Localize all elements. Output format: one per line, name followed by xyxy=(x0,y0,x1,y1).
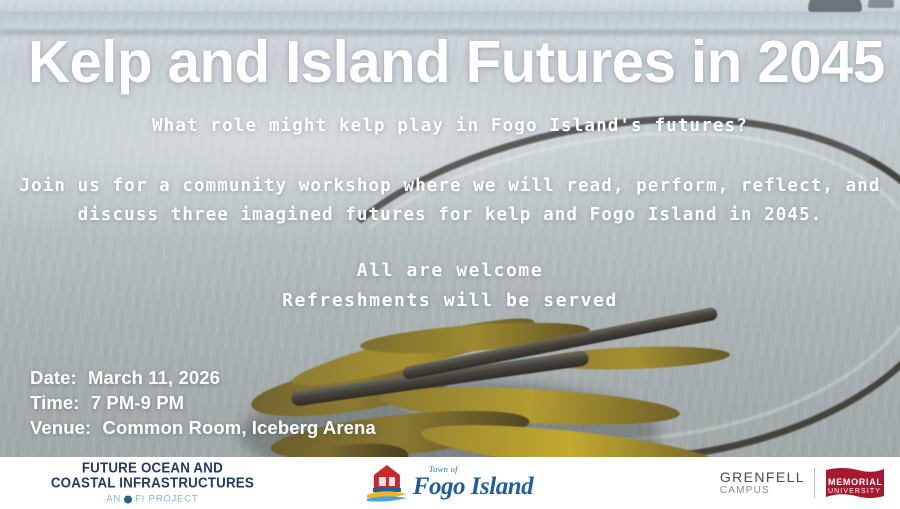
welcome-line-2: Refreshments will be served xyxy=(0,286,900,316)
ofi-circle-icon xyxy=(124,496,132,504)
grenfell-line-1: GRENFELL xyxy=(720,470,805,485)
fogo-house-svg xyxy=(367,464,407,502)
footer-logo-bar: FUTURE OCEAN AND COASTAL INFRASTRUCTURES… xyxy=(0,457,900,509)
foci-line-2: COASTAL INFRASTRUCTURES xyxy=(51,477,254,492)
fogo-wordmark: Town of Fogo Island xyxy=(413,468,533,499)
event-date-value: March 11, 2026 xyxy=(88,367,220,388)
memorial-line-2: UNIVERSITY xyxy=(828,487,883,497)
foci-line-1: FUTURE OCEAN AND xyxy=(51,462,254,477)
event-venue-row: Venue: Common Room, Iceberg Arena xyxy=(30,415,376,440)
welcome-line-1: All are welcome xyxy=(0,256,900,286)
poster-body: Join us for a community workshop where w… xyxy=(0,172,900,230)
event-venue-label: Venue: xyxy=(30,417,91,438)
memorial-university-logo: MEMORIAL UNIVERSITY xyxy=(824,466,886,500)
foci-logo: FUTURE OCEAN AND COASTAL INFRASTRUCTURES… xyxy=(42,462,263,505)
event-date-label: Date: xyxy=(30,367,77,388)
foci-sub-after: FI PROJECT xyxy=(135,494,198,505)
event-time-row: Time: 7 PM-9 PM xyxy=(30,390,376,415)
memorial-wordmark: MEMORIAL UNIVERSITY xyxy=(828,477,883,497)
event-time-label: Time: xyxy=(30,392,80,413)
logo-divider xyxy=(814,468,815,498)
university-logos: GRENFELL CAMPUS MEMORIAL UNIVERSITY xyxy=(720,466,886,500)
event-details: Date: March 11, 2026 Time: 7 PM-9 PM Ven… xyxy=(30,365,376,440)
poster-content: Kelp and Island Futures in 2045 What rol… xyxy=(0,0,900,509)
foci-subline: AN FI PROJECT xyxy=(42,494,263,505)
event-time-value: 7 PM-9 PM xyxy=(91,392,184,413)
memorial-line-1: MEMORIAL xyxy=(828,477,883,487)
welcome-block: All are welcome Refreshments will be ser… xyxy=(0,256,900,316)
fogo-island-logo: Town of Fogo Island xyxy=(367,464,533,502)
body-line-2: discuss three imagined futures for kelp … xyxy=(0,201,900,230)
body-line-1: Join us for a community workshop where w… xyxy=(0,172,900,201)
fogo-house-icon xyxy=(367,464,407,502)
event-venue-value: Common Room, Iceberg Arena xyxy=(103,417,376,438)
event-date-row: Date: March 11, 2026 xyxy=(30,365,376,390)
grenfell-line-2: CAMPUS xyxy=(720,485,805,497)
fogo-town-of-label: Town of xyxy=(429,465,458,474)
foci-sub-before: AN xyxy=(106,494,121,505)
page-title: Kelp and Island Futures in 2045 xyxy=(28,33,885,92)
fogo-island-name: Fogo Island xyxy=(413,474,533,499)
poster: Kelp and Island Futures in 2045 What rol… xyxy=(0,0,900,509)
poster-subtitle: What role might kelp play in Fogo Island… xyxy=(0,116,900,136)
grenfell-campus-logo: GRENFELL CAMPUS xyxy=(720,470,805,497)
